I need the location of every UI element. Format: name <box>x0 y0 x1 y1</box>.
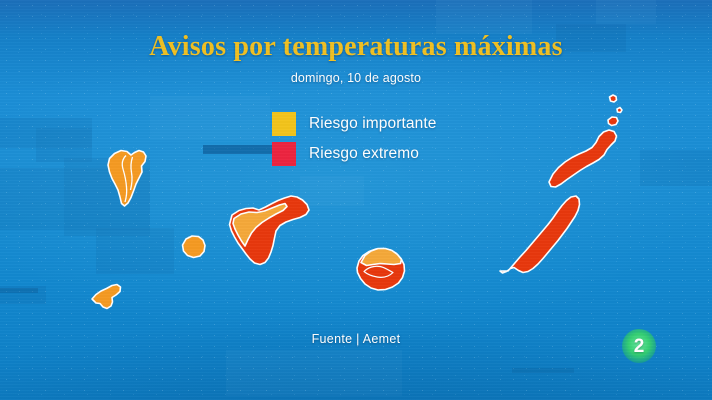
island-el-hierro <box>92 285 121 309</box>
island-la-gomera <box>183 236 206 258</box>
island-fuerteventura <box>500 196 580 273</box>
island-la-graciosa <box>608 117 618 126</box>
channel-logo-la2: 2 <box>622 329 656 363</box>
island-la-palma <box>108 151 146 207</box>
island-lanzarote <box>549 130 617 187</box>
channel-logo-label: 2 <box>634 337 645 356</box>
source-credit: Fuente | Aemet <box>0 332 712 346</box>
island-alegranza <box>610 95 617 102</box>
island-montana-clara <box>617 108 622 113</box>
island-gran-canaria-zone-importante <box>361 249 402 266</box>
weather-graphic-screen: Avisos por temperaturas máximas domingo,… <box>0 0 712 400</box>
